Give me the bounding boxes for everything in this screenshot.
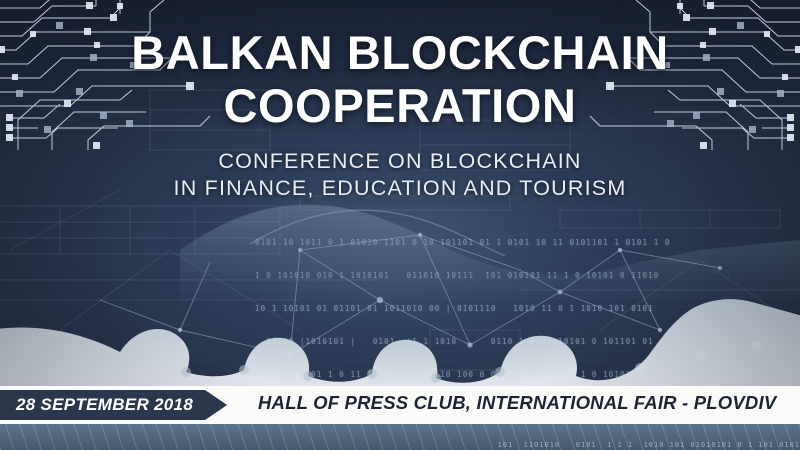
poster-subtitle: CONFERENCE ON BLOCKCHAIN IN FINANCE, EDU… [0,148,800,202]
event-date-label: 28 SEPTEMBER 2018 [16,395,193,415]
footer-bottom-band: 101 1101010 0101 1 1 1 1010 101 01010101… [0,424,800,450]
poster-title: BALKAN BLOCKCHAIN COOPERATION [0,26,800,132]
poster-subtitle-line-1: CONFERENCE ON BLOCKCHAIN [218,149,581,173]
poster-title-line-2: COOPERATION [0,79,800,132]
band-binary-text: 101 1101010 0101 1 1 1 1010 101 01010101… [370,441,800,450]
poster-subtitle-line-2: IN FINANCE, EDUCATION AND TOURISM [0,175,800,202]
poster-title-line-1: BALKAN BLOCKCHAIN [131,26,669,79]
conference-poster: 0101 10 1011 0 1 01010 1101 0 10 101101 … [0,0,800,450]
event-date-badge: 28 SEPTEMBER 2018 [0,390,227,420]
event-venue-label: HALL OF PRESS CLUB, INTERNATIONAL FAIR -… [258,392,776,414]
